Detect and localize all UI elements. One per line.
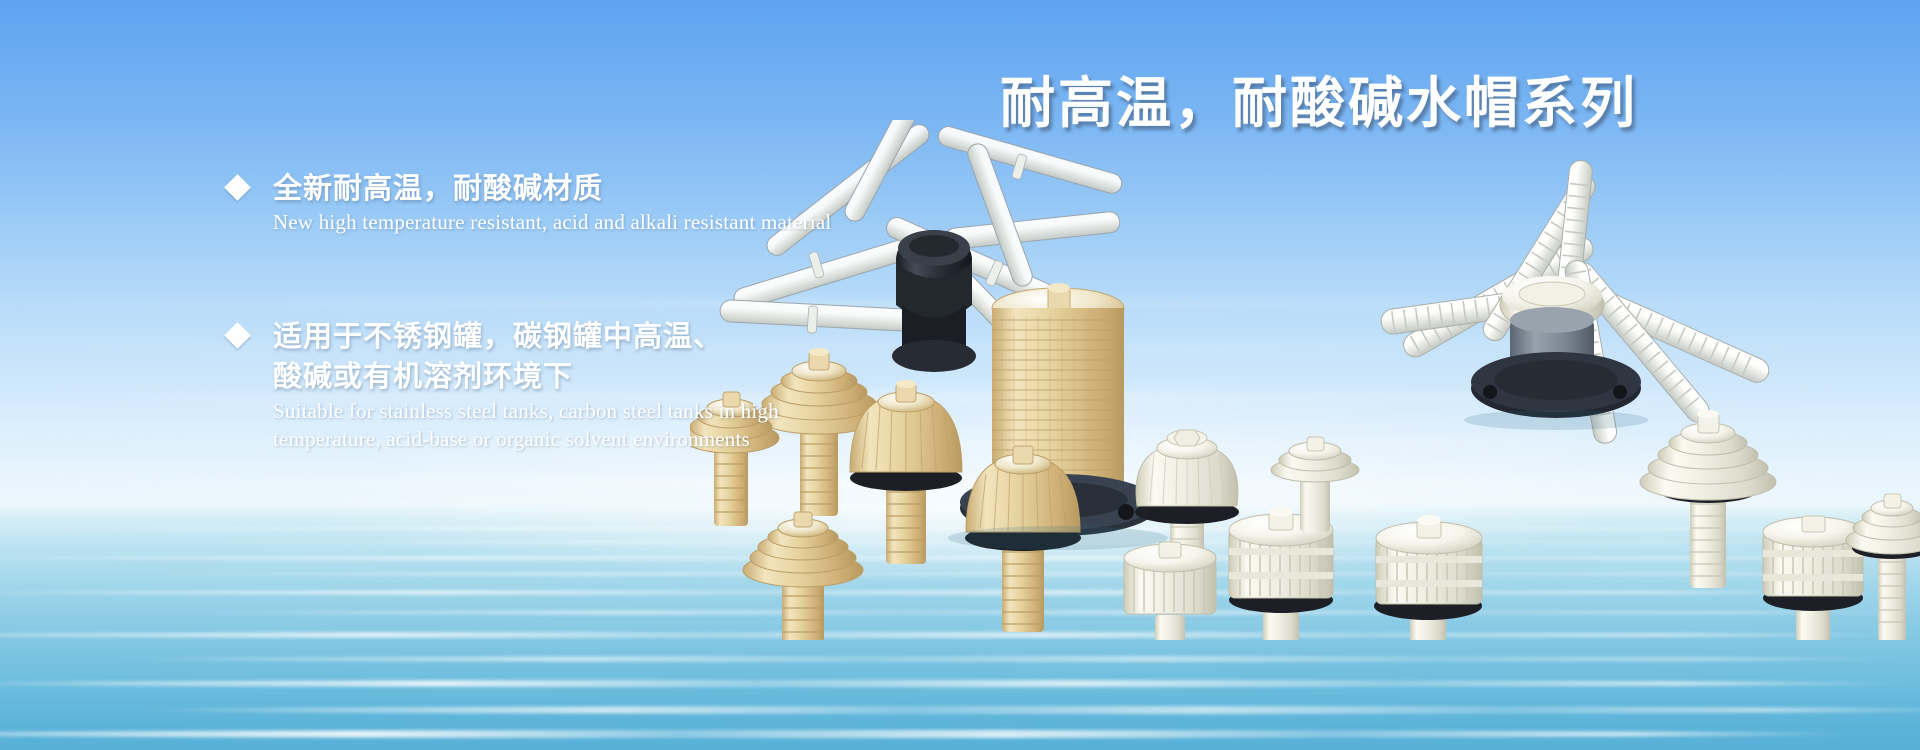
product-image-collage	[690, 120, 1920, 640]
feature-bullet-1: 全新耐高温，耐酸碱材质 New high temperature resista…	[228, 168, 831, 235]
diamond-bullet-icon	[224, 174, 251, 201]
water-ripple	[105, 656, 1910, 662]
product-white-ribbed-drum-b	[1374, 515, 1482, 640]
lateral-arm-group-right	[1380, 160, 1773, 445]
page-title: 耐高温，耐酸碱水帽系列	[1000, 58, 1638, 138]
product-banner: 耐高温，耐酸碱水帽系列 全新耐高温，耐酸碱材质 New high tempera…	[0, 0, 1920, 750]
feature-bullet-1-cn-line-1: 全新耐高温，耐酸碱材质	[273, 168, 603, 208]
feature-bullet-2-en-line-2: temperature, acid-base or organic solven…	[273, 427, 779, 452]
feature-bullet-2-cn-line-2: 酸碱或有机溶剂环境下	[273, 356, 723, 396]
feature-bullet-2-row: 适用于不锈钢罐，碳钢罐中高温、 酸碱或有机溶剂环境下	[228, 316, 779, 396]
diamond-bullet-icon	[224, 322, 251, 349]
hub-black	[892, 230, 976, 372]
product-cream-layered-cap	[1640, 410, 1776, 588]
product-white-drum-right	[1763, 516, 1863, 640]
water-ripple	[0, 680, 1917, 687]
feature-bullet-2-en-line-1: Suitable for stainless steel tanks, carb…	[273, 399, 779, 424]
water-ripple	[126, 706, 1920, 714]
feature-bullet-2: 适用于不锈钢罐，碳钢罐中高温、 酸碱或有机溶剂环境下 Suitable for …	[228, 316, 779, 452]
product-beige-cap-c	[743, 512, 863, 640]
feature-bullet-1-en-line-1: New high temperature resistant, acid and…	[273, 210, 831, 235]
feature-bullet-1-row: 全新耐高温，耐酸碱材质	[228, 168, 831, 208]
product-white-small-drum	[1124, 542, 1216, 640]
feature-bullet-2-cn-line-1: 适用于不锈钢罐，碳钢罐中高温、	[273, 316, 723, 356]
